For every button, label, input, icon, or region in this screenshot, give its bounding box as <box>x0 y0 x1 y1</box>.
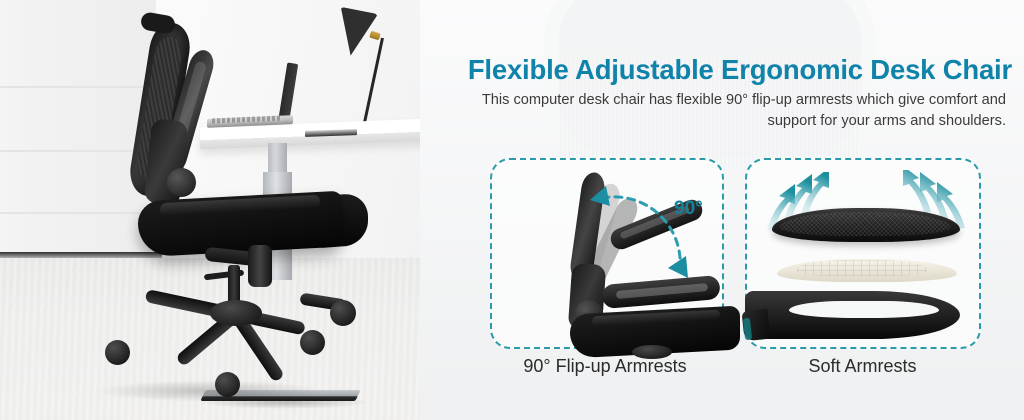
subtitle-text: This computer desk chair has flexible 90… <box>446 90 1006 132</box>
chair-base-hub <box>210 300 262 326</box>
soft-armrest-illustration <box>747 160 979 347</box>
flip-up-illustration: 90° <box>492 160 722 347</box>
rotation-arc-icon <box>588 164 718 294</box>
product-photo <box>0 0 420 420</box>
armrest-frame-cutout <box>789 301 939 318</box>
cabinet <box>0 0 156 258</box>
chair-pivot-knob <box>167 168 196 197</box>
chair-gas-cylinder-housing <box>248 245 272 287</box>
caption-flip-up-armrests: 90° Flip-up Armrests <box>470 356 740 377</box>
armrest-foam-grid-texture <box>797 260 927 276</box>
content-column: Flexible Adjustable Ergonomic Desk Chair… <box>410 0 1024 420</box>
product-banner: Flexible Adjustable Ergonomic Desk Chair… <box>0 0 1024 420</box>
cabinet-seam <box>0 212 162 214</box>
cabinet-seam <box>0 86 162 88</box>
armrest-mesh-texture <box>780 212 950 236</box>
chair-caster <box>330 300 356 326</box>
chair-caster <box>105 340 130 365</box>
chair-caster <box>300 330 325 355</box>
chair-floor-shadow <box>95 380 325 402</box>
chair-caster <box>215 372 240 397</box>
angle-label: 90° <box>674 198 703 220</box>
caption-soft-armrests: Soft Armrests <box>740 356 985 377</box>
feature-panel-soft-armrest <box>745 158 981 349</box>
page-title: Flexible Adjustable Ergonomic Desk Chair <box>412 54 1012 86</box>
feature-panel-flip-up: 90° <box>490 158 724 349</box>
